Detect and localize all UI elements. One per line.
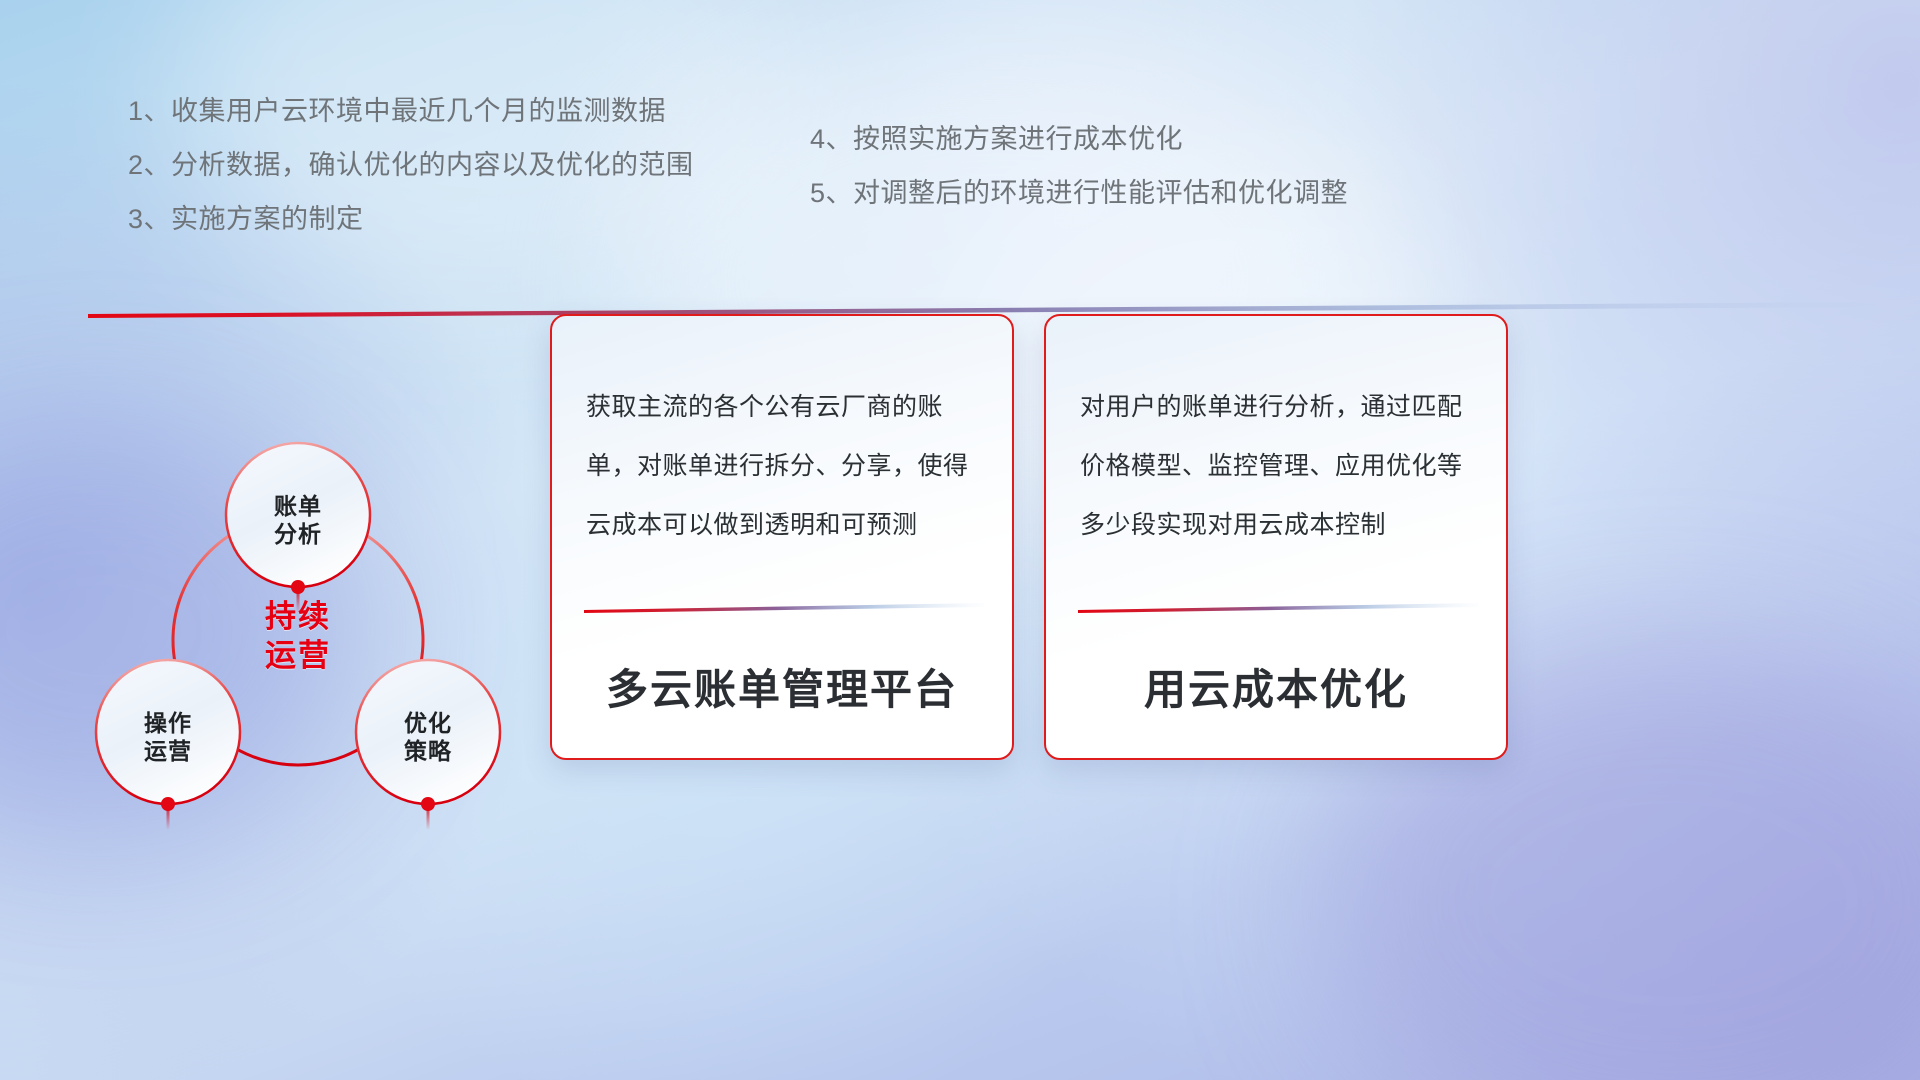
step-item-3: 3、实施方案的制定: [128, 206, 694, 233]
step-item-5: 5、对调整后的环境进行性能评估和优化调整: [810, 180, 1348, 207]
diagram-center-label: 持续 运营: [228, 598, 368, 676]
card-body-text: 对用户的账单进行分析，通过匹配价格模型、监控管理、应用优化等多少段实现对用云成本…: [1080, 378, 1476, 554]
continuous-operation-diagram: 账单 分析 操作 运营 优化 策略 持续 运营: [60, 300, 580, 800]
card-cloud-cost-optimization[interactable]: 对用户的账单进行分析，通过匹配价格模型、监控管理、应用优化等多少段实现对用云成本…: [1044, 314, 1508, 760]
card-title: 多云账单管理平台: [552, 656, 1012, 717]
slide-canvas: 1、收集用户云环境中最近几个月的监测数据 2、分析数据，确认优化的内容以及优化的…: [0, 0, 1920, 1080]
diagram-label-operation-ops: 操作 运营: [108, 709, 228, 765]
step-item-1: 1、收集用户云环境中最近几个月的监测数据: [128, 98, 694, 125]
card-multi-cloud-billing-platform[interactable]: 获取主流的各个公有云厂商的账单，对账单进行拆分、分享，使得云成本可以做到透明和可…: [550, 314, 1014, 760]
card-title: 用云成本优化: [1046, 656, 1506, 717]
steps-left-column: 1、收集用户云环境中最近几个月的监测数据 2、分析数据，确认优化的内容以及优化的…: [128, 98, 694, 233]
card-accent-rule: [1078, 602, 1478, 613]
step-item-4: 4、按照实施方案进行成本优化: [810, 126, 1348, 153]
card-accent-rule: [584, 602, 984, 613]
card-body-text: 获取主流的各个公有云厂商的账单，对账单进行拆分、分享，使得云成本可以做到透明和可…: [586, 378, 982, 554]
steps-right-column: 4、按照实施方案进行成本优化 5、对调整后的环境进行性能评估和优化调整: [810, 126, 1348, 207]
diagram-label-bill-analysis: 账单 分析: [238, 492, 358, 548]
diagram-label-optimize-strategy: 优化 策略: [368, 709, 488, 765]
step-item-2: 2、分析数据，确认优化的内容以及优化的范围: [128, 152, 694, 179]
